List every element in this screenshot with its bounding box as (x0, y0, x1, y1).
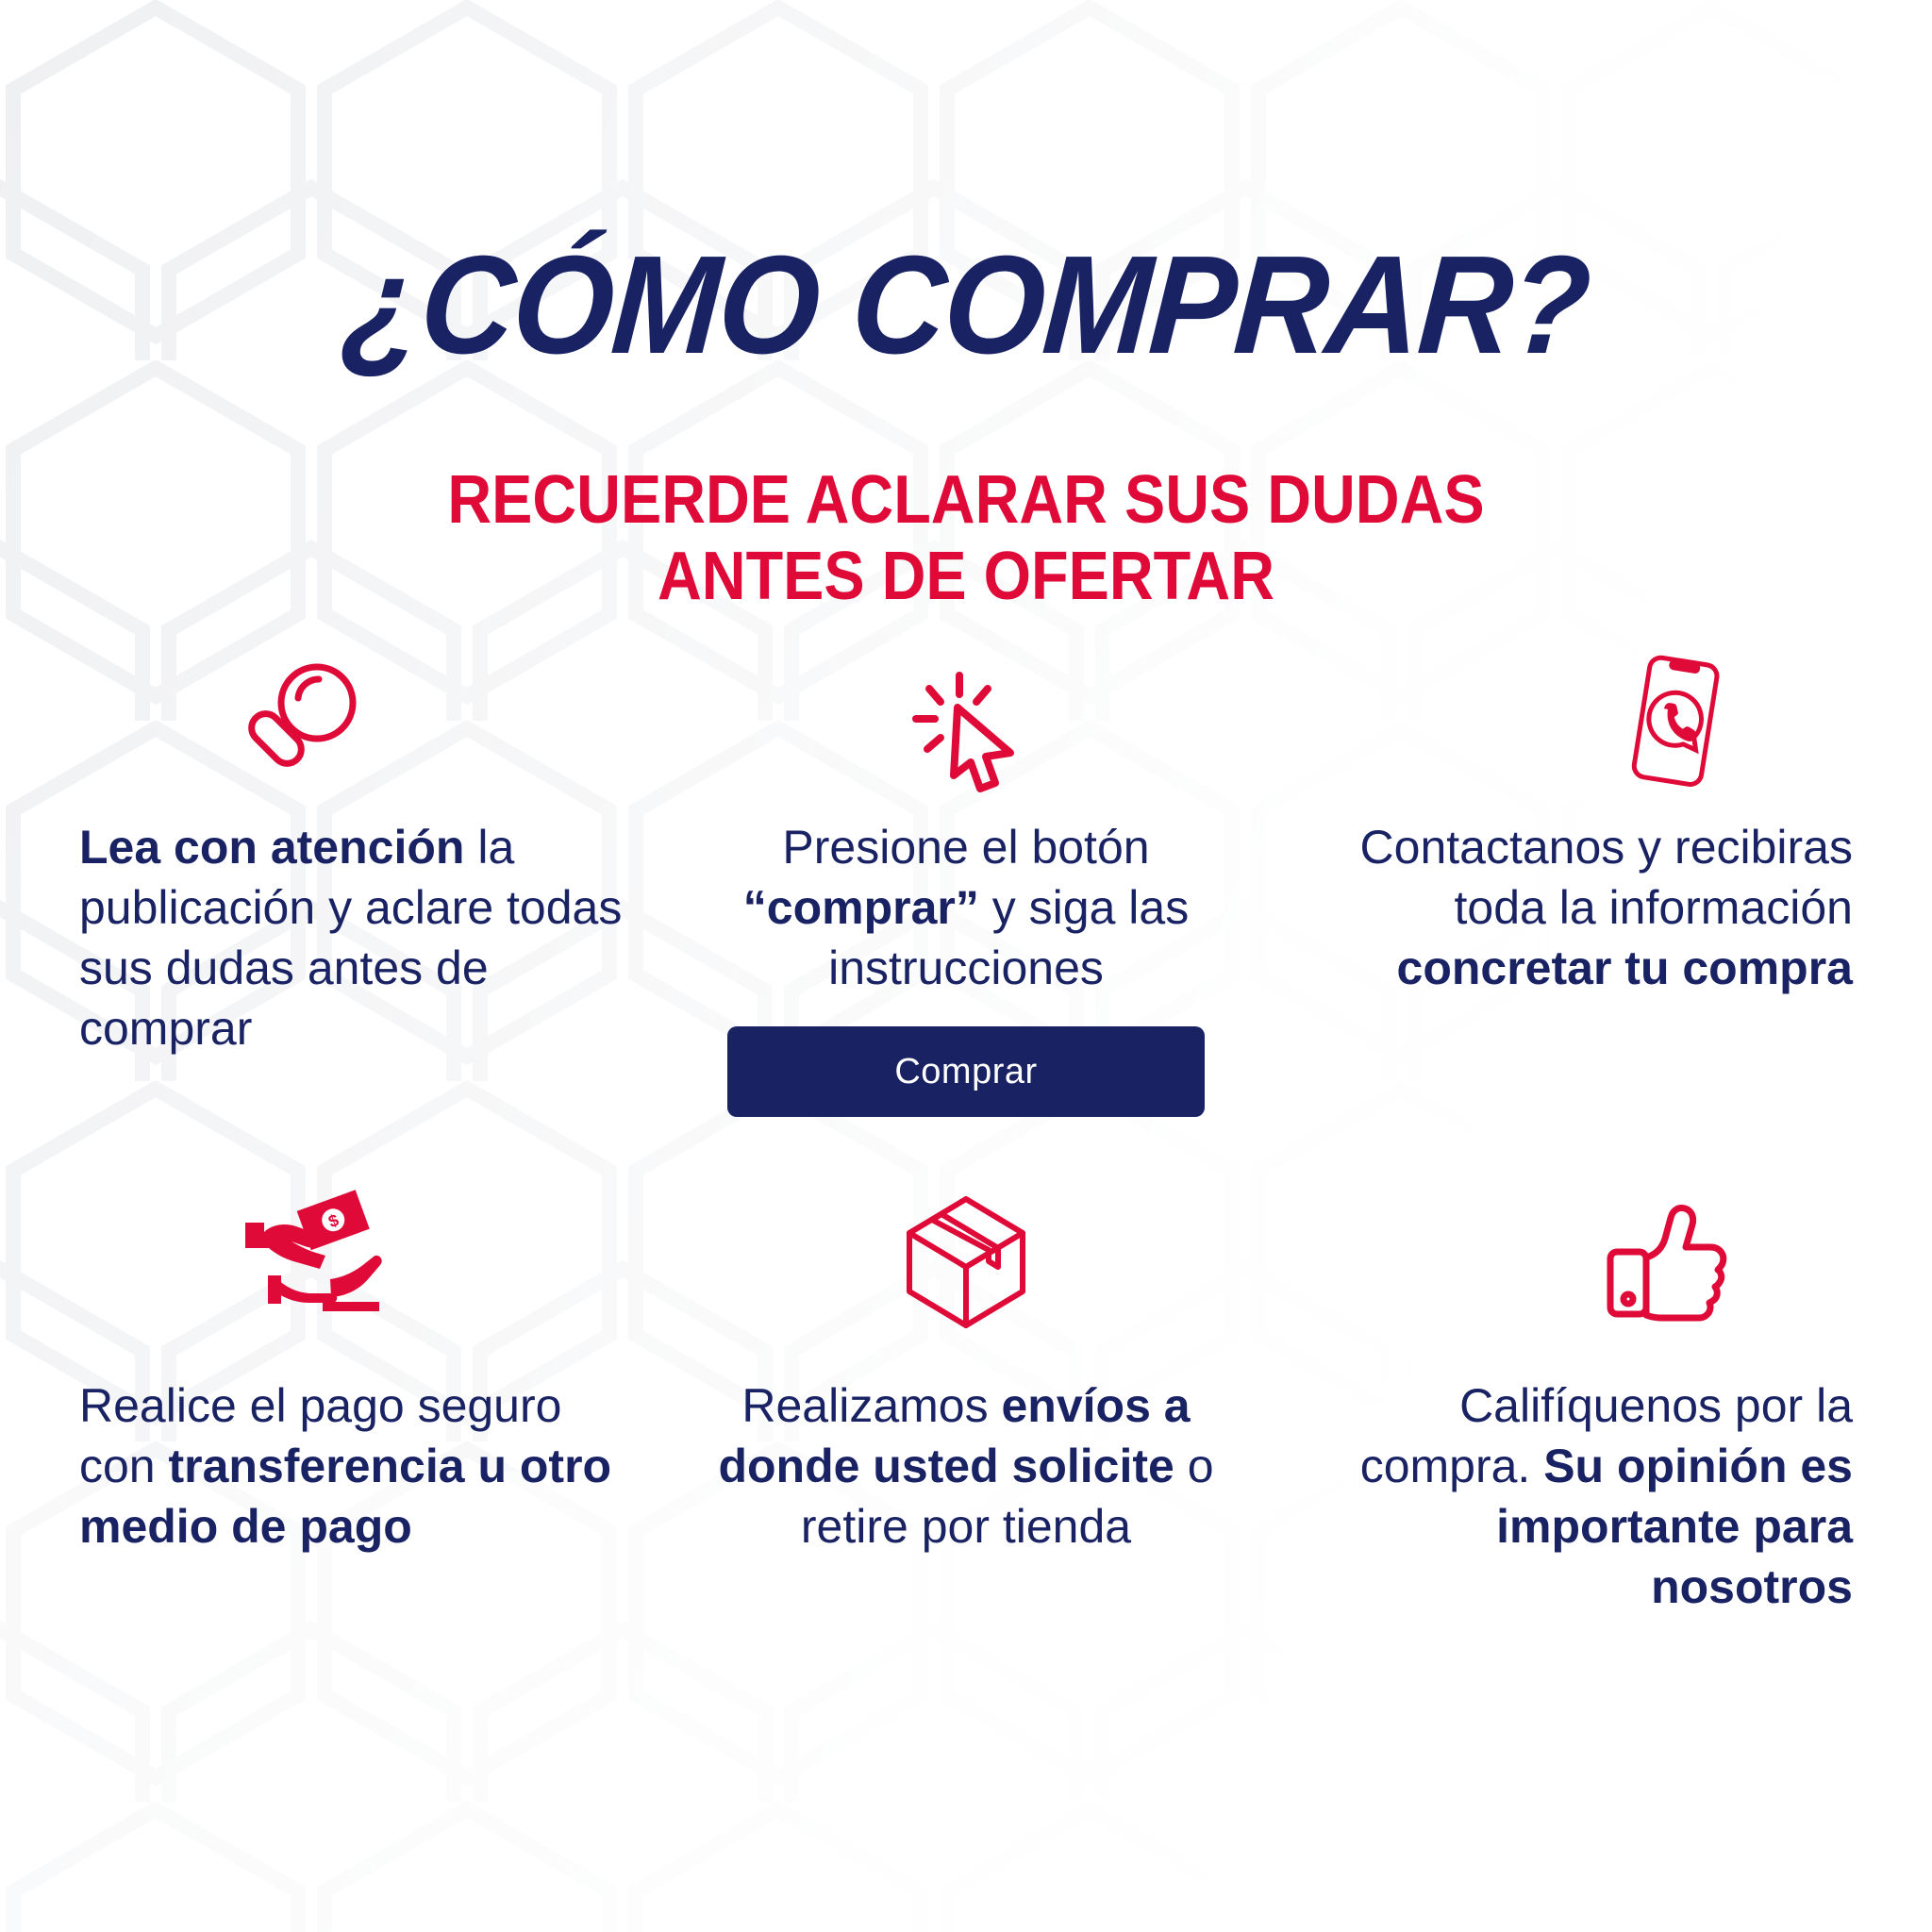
click-cursor-icon (905, 670, 1027, 792)
magnifier-icon (240, 660, 362, 792)
page-title-wrapper: ¿CÓMO COMPRAR? (0, 236, 1932, 375)
step-text: Califíquenos por la compra. Su opinión e… (1294, 1375, 1853, 1617)
step-card-rate-us: Califíquenos por la compra. Su opinión e… (1272, 1179, 1875, 1651)
page-subtitle: RECUERDE ACLARAR SUS DUDAS ANTES DE OFER… (96, 462, 1835, 614)
step-card-secure-payment: $ Realice el pago seguro con transferenc… (57, 1179, 660, 1651)
buy-button[interactable]: Comprar (727, 1026, 1205, 1117)
step-card-shipping: Realizamos envíos a donde usted solicite… (664, 1179, 1268, 1651)
icon-slot (687, 651, 1245, 792)
page-title: ¿CÓMO COMPRAR? (63, 236, 1869, 375)
subtitle-line-2: ANTES DE OFERTAR (96, 539, 1835, 615)
step-card-contact-us: Contactanos y recibiras toda la informac… (1272, 651, 1875, 1179)
package-box-icon (900, 1193, 1032, 1330)
icon-slot (1294, 1179, 1853, 1330)
thumbs-up-icon (1603, 1193, 1740, 1330)
step-text: Realizamos envíos a donde usted solicite… (687, 1375, 1245, 1557)
step-text: Contactanos y recibiras toda la informac… (1294, 817, 1853, 998)
icon-slot (1294, 651, 1853, 792)
steps-grid: Lea con atención la publicación y aclare… (57, 651, 1875, 1651)
step-card-read-carefully: Lea con atención la publicación y aclare… (57, 651, 660, 1179)
step-text: Presione el botón “comprar” y siga las i… (687, 817, 1245, 998)
step-text: Lea con atención la publicación y aclare… (79, 817, 638, 1058)
money-hands-icon: $ (240, 1189, 391, 1330)
subtitle-line-1: RECUERDE ACLARAR SUS DUDAS (96, 462, 1835, 539)
icon-slot (79, 651, 638, 792)
step-text: Realice el pago seguro con transferencia… (79, 1375, 638, 1557)
icon-slot: $ (79, 1179, 638, 1330)
step-card-press-buy: Presione el botón “comprar” y siga las i… (664, 651, 1268, 1179)
icon-slot (687, 1179, 1245, 1330)
whatsapp-phone-icon (1607, 651, 1740, 792)
